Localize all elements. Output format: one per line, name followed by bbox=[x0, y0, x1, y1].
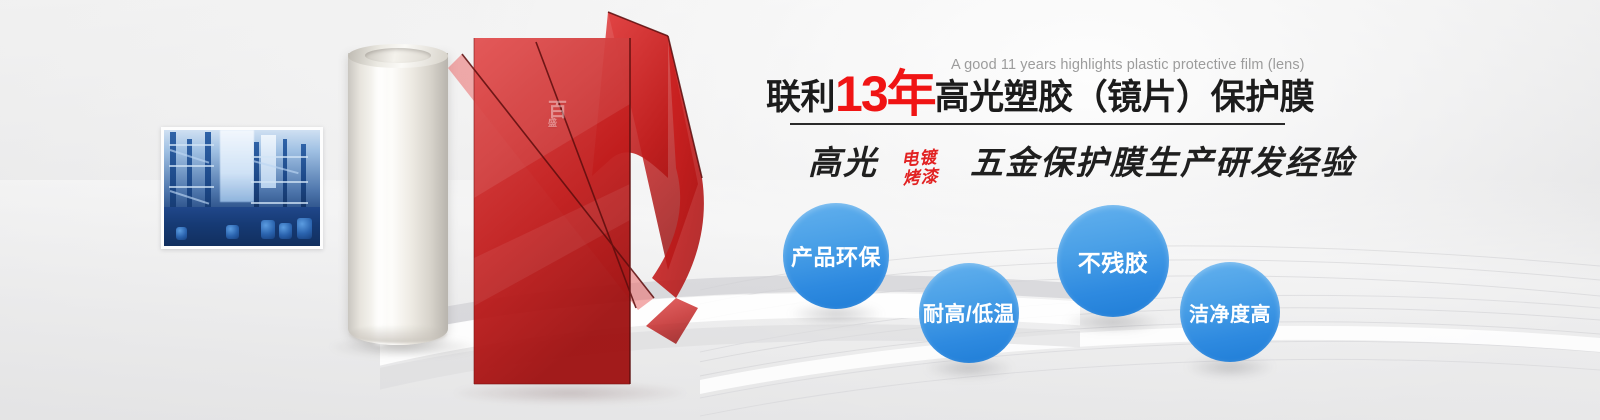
headline-years: 13年 bbox=[835, 66, 935, 122]
factory-photo-image bbox=[164, 130, 320, 246]
feature-bubble-label: 洁净度高 bbox=[1189, 298, 1271, 327]
product-brand-logo: 百 盛 bbox=[548, 103, 602, 133]
calligraphy-part-a: 高光 bbox=[808, 136, 878, 184]
feature-bubble-4[interactable]: 洁净度高 bbox=[1180, 262, 1280, 362]
headline-brand: 联利 bbox=[766, 78, 835, 117]
calligraphy-red-line-2: 烤漆 bbox=[902, 168, 939, 189]
feature-bubble-label: 产品环保 bbox=[791, 240, 881, 272]
headline-divider bbox=[790, 123, 1285, 125]
feature-bubble-3[interactable]: 不残胶 bbox=[1057, 205, 1169, 317]
calligraphy-red-stack: 电镀 烤漆 bbox=[901, 149, 940, 189]
calligraphy-part-b: 五金保护膜生产研发经验 bbox=[970, 136, 1355, 184]
red-film-sheets bbox=[440, 8, 740, 400]
feature-bubble-label: 耐高/低温 bbox=[923, 298, 1015, 328]
feature-bubble-1[interactable]: 产品环保 bbox=[783, 203, 889, 309]
brand-logo-char-1: 百 bbox=[548, 103, 602, 118]
clear-film-roll bbox=[348, 44, 448, 344]
feature-bubble-2[interactable]: 耐高/低温 bbox=[919, 263, 1019, 363]
factory-photo-frame bbox=[161, 127, 323, 249]
headline-product: 高光塑胶（镜片）保护膜 bbox=[935, 78, 1315, 117]
headline-main: 联利13年高光塑胶（镜片）保护膜 bbox=[766, 72, 1314, 120]
english-tagline: A good 11 years highlights plastic prote… bbox=[951, 57, 1305, 73]
feature-bubble-label: 不残胶 bbox=[1078, 244, 1149, 278]
calligraphy-line: 高光 电镀 烤漆 五金保护膜生产研发经验 bbox=[808, 128, 1308, 190]
brand-logo-char-2: 盛 bbox=[548, 118, 602, 128]
promo-banner: 百 盛 A good 11 years highlights plastic p… bbox=[0, 0, 1600, 420]
